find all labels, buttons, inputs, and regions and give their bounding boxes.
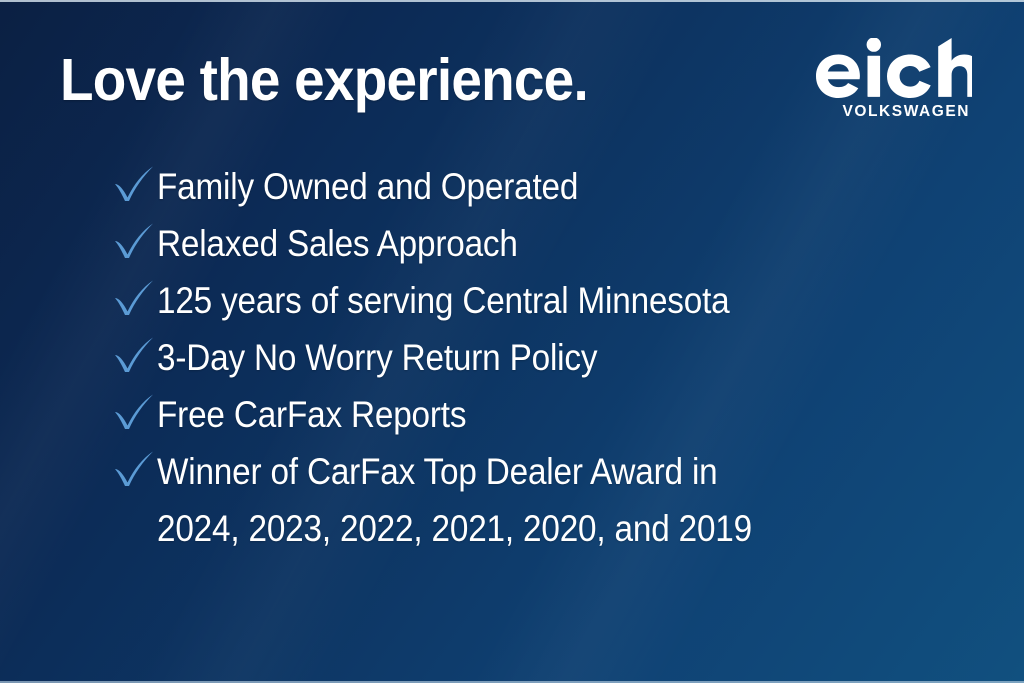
list-item: Free CarFax Reports — [112, 386, 982, 443]
check-icon — [112, 449, 157, 489]
list-item: Winner of CarFax Top Dealer Award in 202… — [112, 443, 982, 557]
list-item-label: 125 years of serving Central Minnesota — [157, 272, 900, 329]
logo-brand-label: VOLKSWAGEN — [816, 103, 972, 121]
check-icon — [112, 164, 157, 204]
check-icon — [112, 335, 157, 375]
check-icon — [112, 278, 157, 318]
page-title: Love the experience. — [60, 46, 588, 114]
check-icon — [112, 221, 157, 261]
eich-wordmark-icon — [816, 38, 972, 100]
list-item-label: Relaxed Sales Approach — [157, 215, 900, 272]
list-item-label-wrapped: Winner of CarFax Top Dealer Award in 202… — [157, 443, 900, 557]
promo-slide: Love the experience. VOLKSWAGEN Family O… — [0, 0, 1024, 683]
eich-volkswagen-logo: VOLKSWAGEN — [816, 38, 972, 121]
benefits-list: Family Owned and Operated Relaxed Sales … — [112, 158, 982, 557]
list-item: 125 years of serving Central Minnesota — [112, 272, 982, 329]
list-item: Family Owned and Operated — [112, 158, 982, 215]
top-edge-rule — [0, 0, 1024, 2]
list-item-label: Family Owned and Operated — [157, 158, 900, 215]
check-icon — [112, 392, 157, 432]
list-item-label: Winner of CarFax Top Dealer Award in — [157, 451, 718, 492]
list-item-label: 3-Day No Worry Return Policy — [157, 329, 900, 386]
list-item: Relaxed Sales Approach — [112, 215, 982, 272]
list-item-label-continuation: 2024, 2023, 2022, 2021, 2020, and 2019 — [157, 500, 900, 557]
list-item-label: Free CarFax Reports — [157, 386, 900, 443]
list-item: 3-Day No Worry Return Policy — [112, 329, 982, 386]
